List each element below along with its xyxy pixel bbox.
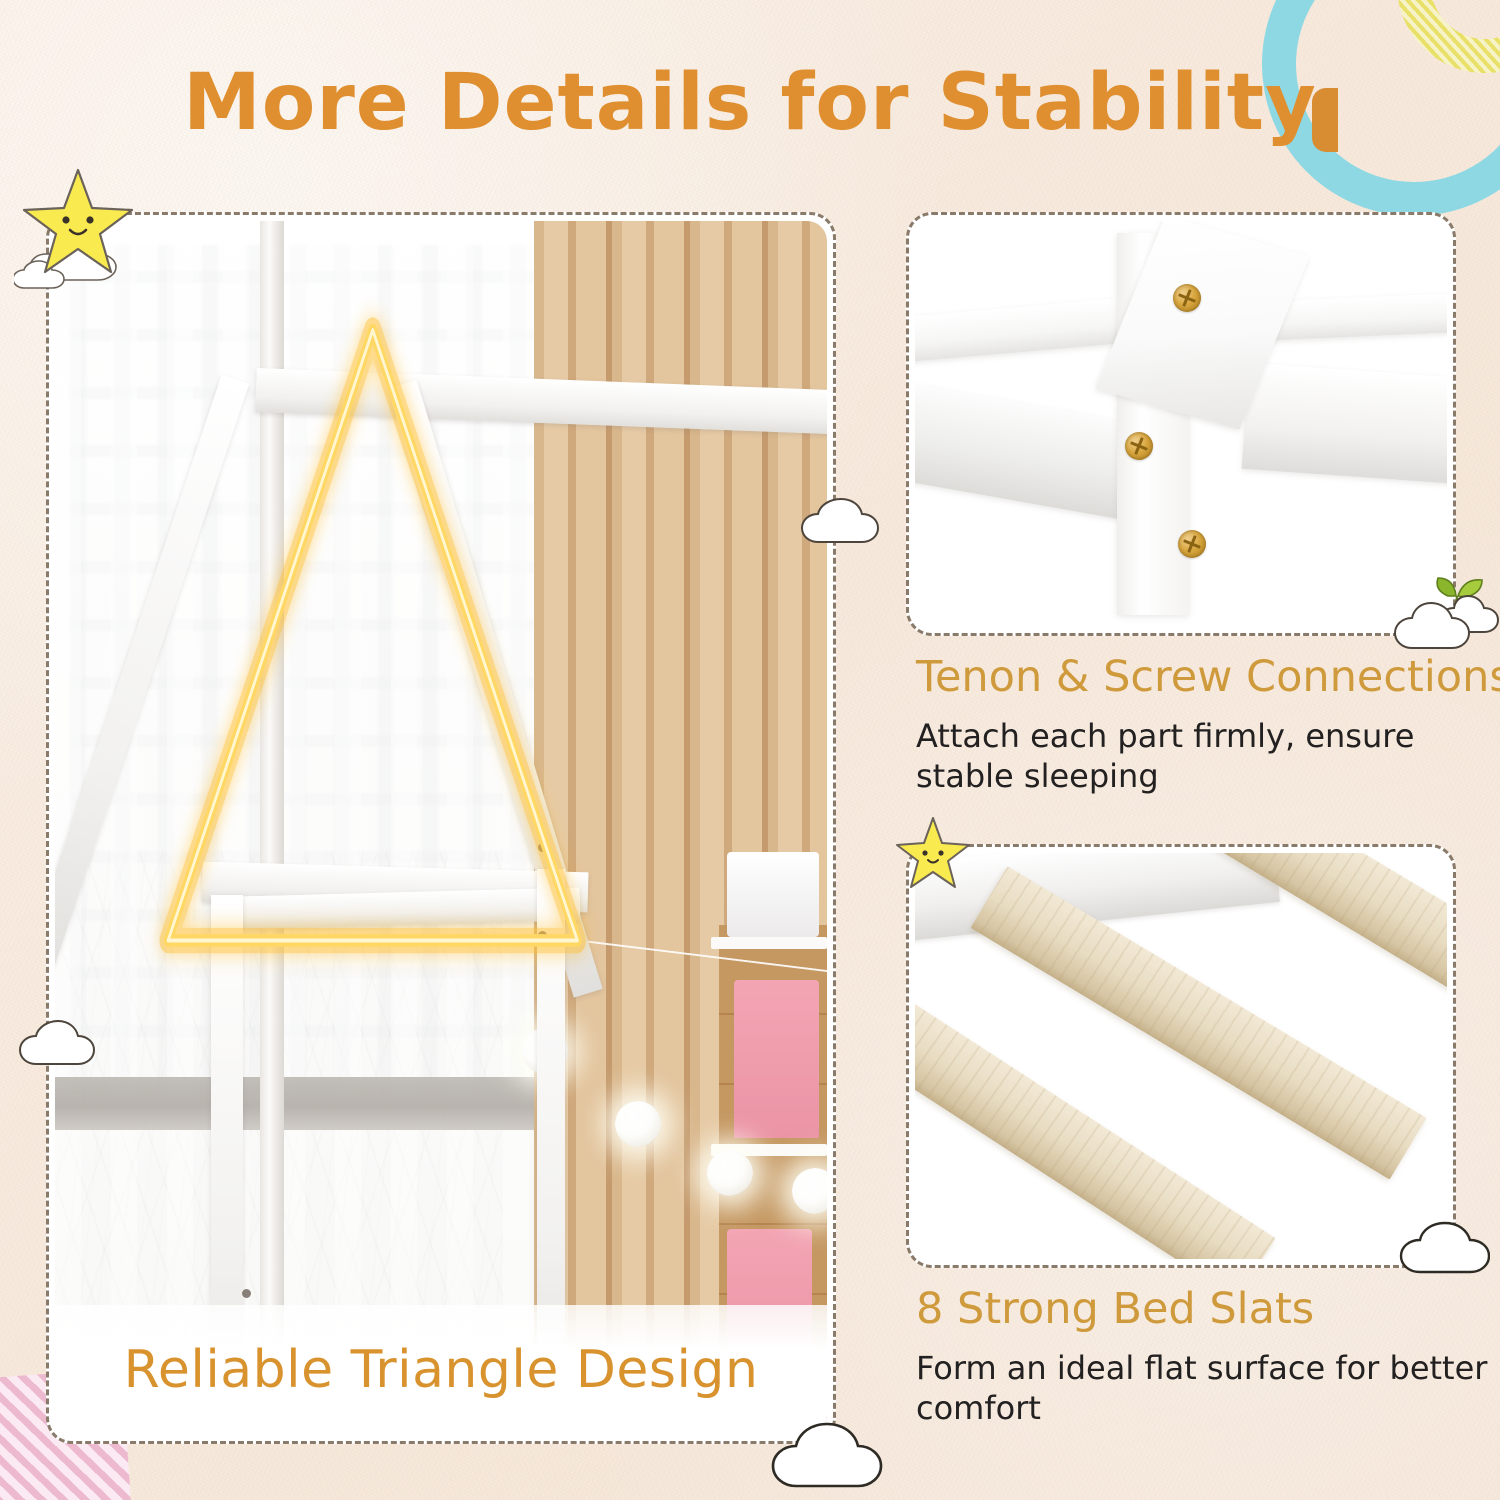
screw-icon (1173, 284, 1201, 312)
panel-main-photo: Reliable Triangle Design (46, 212, 836, 1444)
shelf-board (711, 937, 827, 949)
window-sill-band (55, 1077, 534, 1130)
storage-bin-white (727, 852, 820, 937)
joint-photo (915, 221, 1447, 627)
panel-slats-photo (906, 844, 1456, 1268)
joint-heading: Tenon & Screw Connections (916, 652, 1496, 702)
slats-text-block: 8 Strong Bed Slats Form an ideal flat su… (916, 1284, 1496, 1429)
joint-body: Attach each part firmly, ensure stable s… (916, 716, 1496, 797)
panel-joint-photo (906, 212, 1456, 636)
screw-hole-dot (538, 843, 547, 852)
light-bulb (707, 1150, 753, 1196)
light-bulb (615, 1101, 661, 1147)
infographic-page: More Details for Stability (0, 0, 1500, 1500)
slats-body: Form an ideal flat surface for better co… (916, 1348, 1496, 1429)
joint-text-block: Tenon & Screw Connections Attach each pa… (916, 652, 1496, 797)
panel-joint-inner (915, 221, 1447, 627)
main-caption-band: Reliable Triangle Design (55, 1305, 827, 1435)
joint-rail-lower-left (915, 384, 1145, 521)
panel-main-inner: Reliable Triangle Design (55, 221, 827, 1435)
slats-heading: 8 Strong Bed Slats (916, 1284, 1496, 1334)
main-caption-text: Reliable Triangle Design (124, 1340, 759, 1400)
slats-photo (915, 853, 1447, 1259)
screw-icon (1178, 530, 1206, 558)
joint-rail-lower-right (1241, 363, 1447, 485)
panel-slats-inner (915, 853, 1447, 1259)
room-photo: Reliable Triangle Design (55, 221, 827, 1435)
page-title: More Details for Stability (0, 58, 1500, 148)
